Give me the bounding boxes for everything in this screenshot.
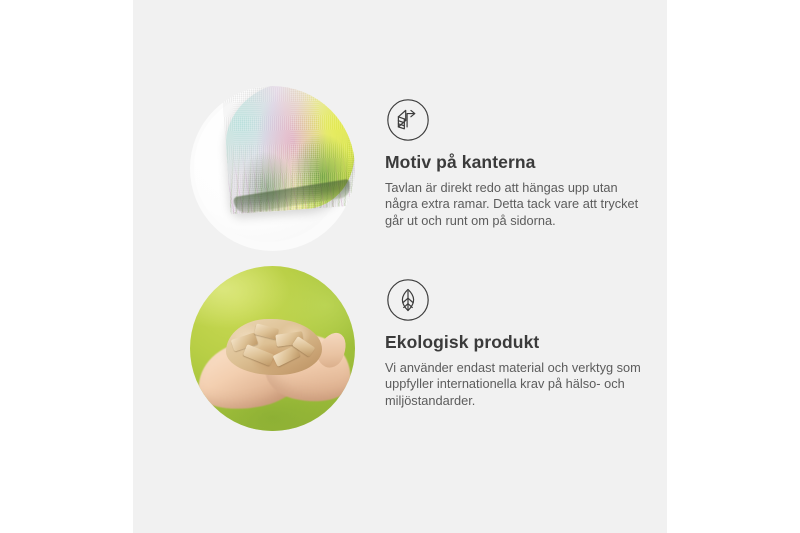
hands-holding-wood-chips-photo <box>190 266 355 431</box>
product-feature-banner: Motiv på kanterna Tavlan är direkt redo … <box>0 0 800 533</box>
canvas-corner-shape <box>222 86 355 214</box>
feature-text-block: Motiv på kanterna Tavlan är direkt redo … <box>385 98 653 229</box>
feature-row: Motiv på kanterna Tavlan är direkt redo … <box>133 78 667 258</box>
feature-title: Motiv på kanterna <box>385 152 653 173</box>
wood-chip <box>242 344 273 366</box>
feature-row: Ekologisk produkt Vi använder endast mat… <box>133 258 667 438</box>
feature-text-block: Ekologisk produkt Vi använder endast mat… <box>385 278 653 409</box>
canvas-print-corner-photo <box>190 86 355 251</box>
feature-description: Tavlan är direkt redo att hängas upp uta… <box>385 180 653 229</box>
canvas-wrapped-edge-icon <box>386 98 430 142</box>
content-panel: Motiv på kanterna Tavlan är direkt redo … <box>133 0 667 533</box>
wood-chips-pile <box>226 319 322 375</box>
feature-description: Vi använder endast material och verktyg … <box>385 360 653 409</box>
feature-title: Ekologisk produkt <box>385 332 653 353</box>
leaf-icon <box>386 278 430 322</box>
